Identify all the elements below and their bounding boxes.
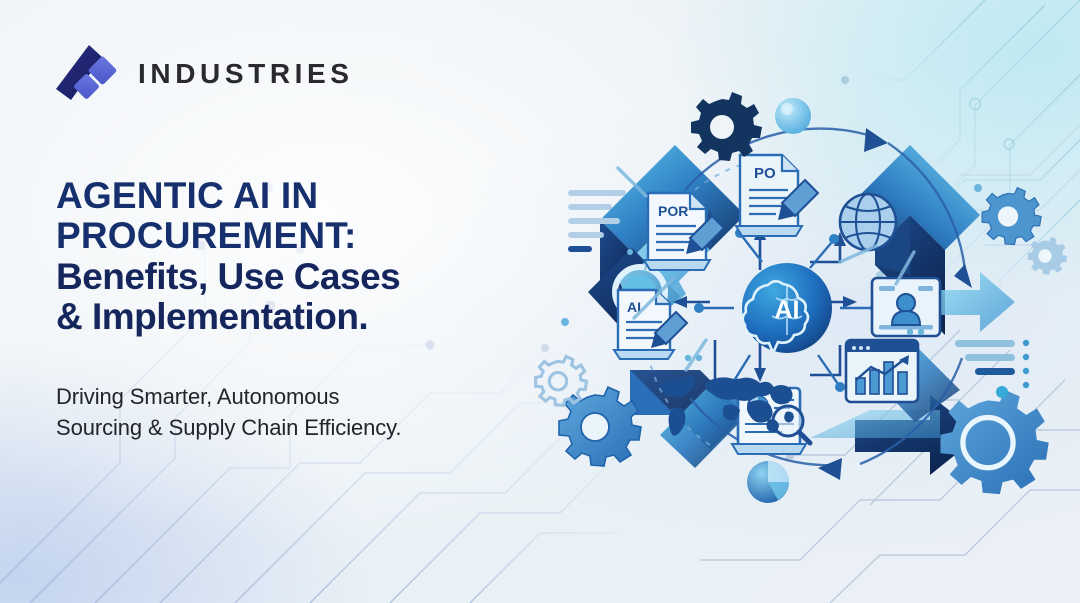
brand-logo[interactable]: INDUSTRIES bbox=[52, 42, 354, 106]
po-document-label: PO bbox=[754, 165, 776, 182]
headline-line-4: & Implementation. bbox=[56, 297, 526, 337]
headline-line-1: AGENTIC AI IN bbox=[56, 176, 526, 216]
por-document-label: POR bbox=[658, 203, 688, 219]
globe-icon bbox=[840, 194, 896, 250]
subheadline-block: Driving Smarter, Autonomous Sourcing & S… bbox=[56, 381, 526, 443]
ai-center-label: AI bbox=[775, 296, 800, 324]
promo-banner: INDUSTRIES AGENTIC AI IN PROCUREMENT: Be… bbox=[0, 0, 1080, 603]
diagram-canvas: AI PO bbox=[510, 40, 1070, 560]
headline-line-3: Benefits, Use Cases bbox=[56, 257, 526, 297]
headline-block: AGENTIC AI IN PROCUREMENT: Benefits, Use… bbox=[56, 176, 526, 337]
decor-bars-icon bbox=[955, 340, 1029, 398]
analytics-chart-window-icon bbox=[846, 340, 918, 402]
brand-name: INDUSTRIES bbox=[138, 60, 354, 88]
headline-line-2: PROCUREMENT: bbox=[56, 216, 526, 256]
gear-icon bbox=[1028, 237, 1067, 275]
industries-logo-icon bbox=[52, 42, 118, 106]
gear-icon bbox=[536, 356, 587, 405]
gear-icon bbox=[982, 188, 1041, 245]
user-profile-card-icon bbox=[872, 278, 940, 336]
subheadline-line-1: Driving Smarter, Autonomous bbox=[56, 381, 526, 412]
blue-sphere-icon bbox=[775, 98, 811, 134]
chevron-arrow-icon bbox=[940, 272, 1015, 332]
po-document-icon: PO bbox=[736, 155, 818, 236]
pie-chart-sphere-icon bbox=[747, 461, 789, 503]
gear-icon bbox=[940, 390, 1048, 494]
ai-procurement-diagram: AI PO bbox=[510, 40, 1070, 560]
subheadline-line-2: Sourcing & Supply Chain Efficiency. bbox=[56, 412, 526, 443]
gear-icon bbox=[691, 92, 762, 161]
